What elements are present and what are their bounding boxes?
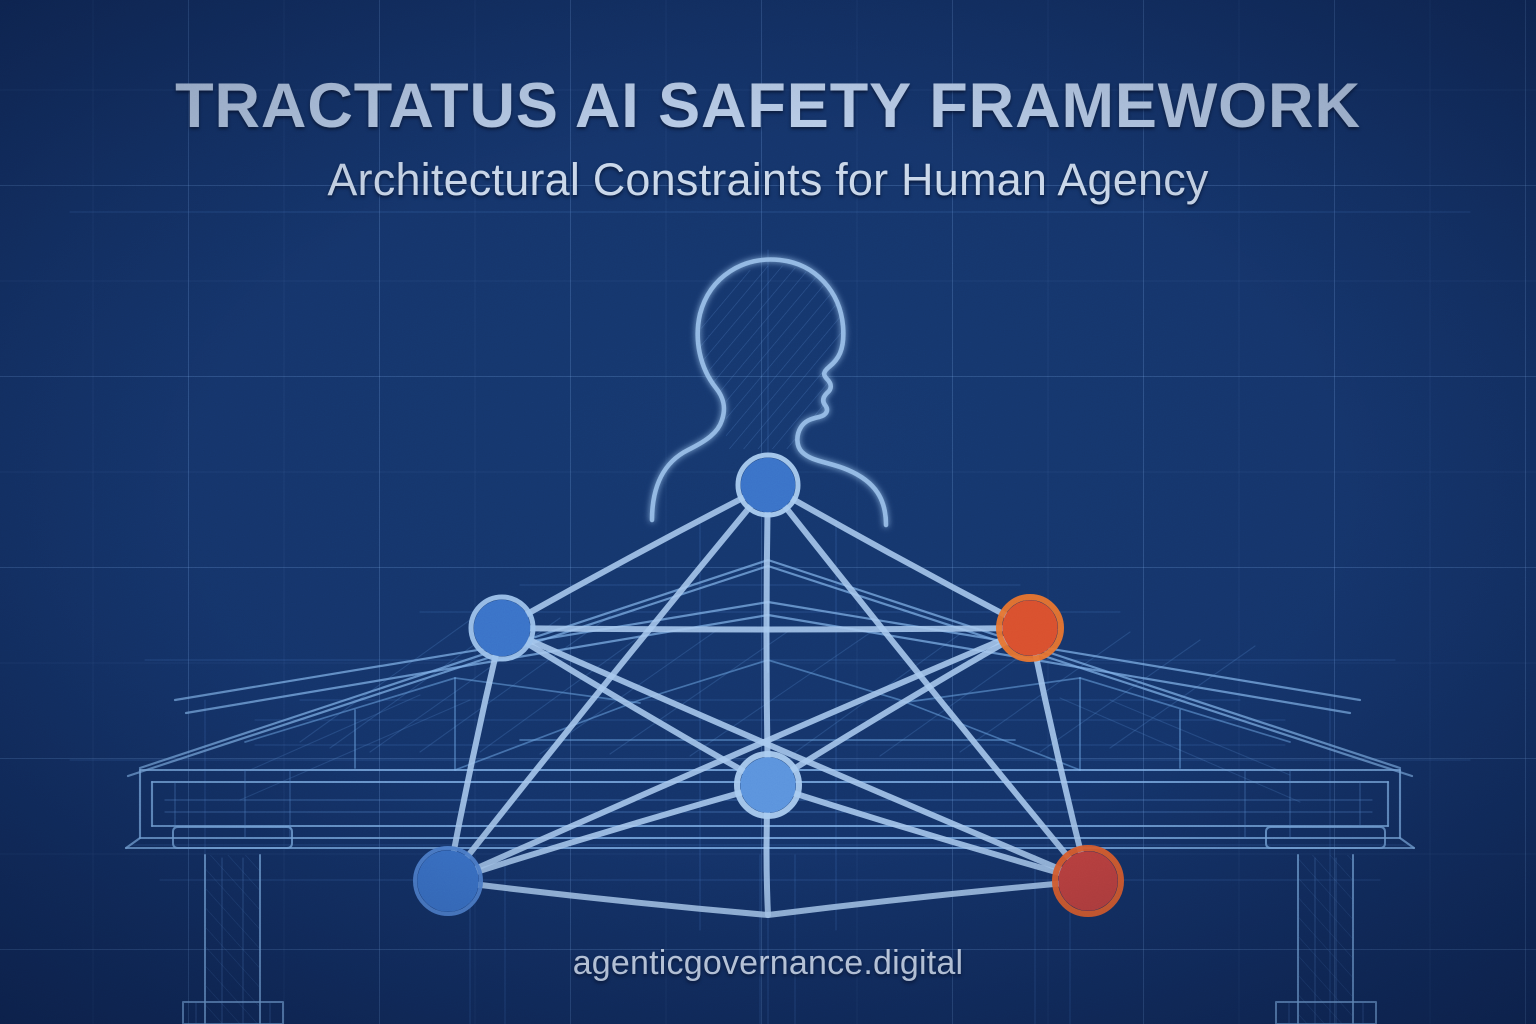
node-core <box>474 600 531 657</box>
network-edge <box>768 785 1088 881</box>
network-edge <box>502 628 1088 881</box>
network-edge <box>448 881 768 915</box>
network-edge <box>448 485 768 881</box>
network-node-left[interactable] <box>471 597 533 659</box>
network-edge <box>768 881 1088 915</box>
network-graph <box>0 0 1536 1024</box>
node-core <box>1002 600 1057 655</box>
network-edge <box>502 485 768 628</box>
network-node-bottom-left[interactable] <box>415 848 481 914</box>
node-core <box>417 850 479 912</box>
network-node-center[interactable] <box>737 754 799 816</box>
network-edges <box>448 485 1088 915</box>
node-core <box>741 458 796 513</box>
footer-url: agenticgovernance.digital <box>0 944 1536 983</box>
network-edge <box>768 485 1030 628</box>
network-node-top[interactable] <box>738 455 798 515</box>
poster-canvas: TRACTATUS AI SAFETY FRAMEWORK Architectu… <box>0 0 1536 1024</box>
node-core <box>1058 851 1117 910</box>
network-edge <box>448 628 1030 881</box>
network-node-right[interactable] <box>999 597 1061 659</box>
node-core <box>740 757 795 812</box>
network-edge <box>448 785 768 881</box>
network-edge <box>502 628 1030 630</box>
network-node-bottom-right[interactable] <box>1055 848 1121 914</box>
